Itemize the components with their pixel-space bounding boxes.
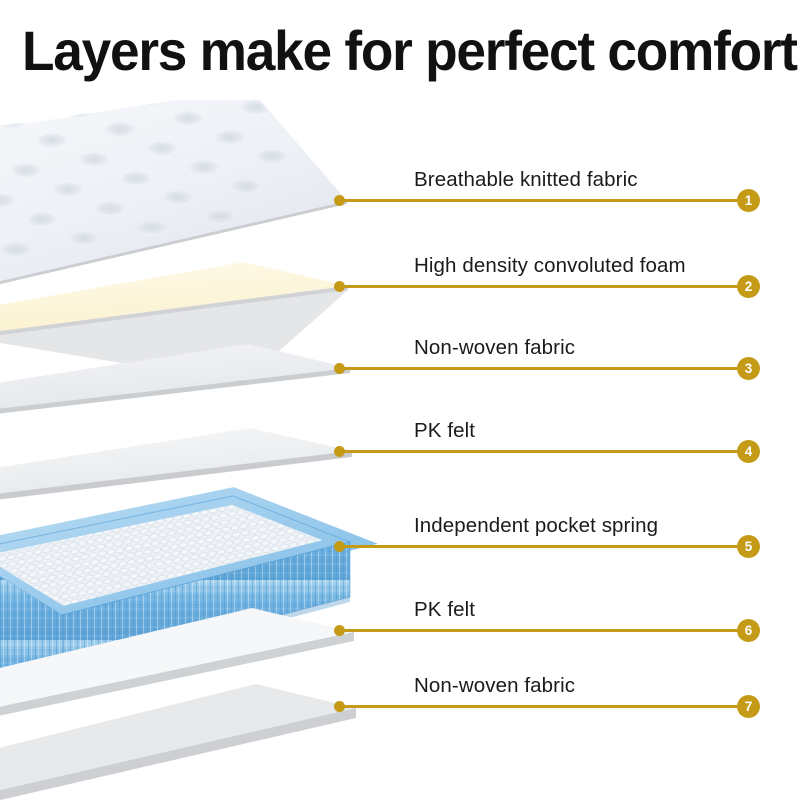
callout-label-5: Independent pocket spring <box>414 514 658 538</box>
layer-pk-felt-top <box>0 428 352 503</box>
callout-label-7: Non-woven fabric <box>414 674 575 698</box>
callout-line-5 <box>340 545 745 548</box>
callout-label-1: Breathable knitted fabric <box>414 168 638 192</box>
callout-badge-5[interactable]: 5 <box>737 535 760 558</box>
callout-badge-7[interactable]: 7 <box>737 695 760 718</box>
callout-badge-3[interactable]: 3 <box>737 357 760 380</box>
callout-badge-6[interactable]: 6 <box>737 619 760 642</box>
callout-label-2: High density convoluted foam <box>414 254 686 278</box>
callout-label-3: Non-woven fabric <box>414 336 575 360</box>
callout-line-1 <box>340 199 745 202</box>
callout-line-6 <box>340 629 745 632</box>
page-title: Layers make for perfect comfort <box>22 20 744 82</box>
callout-badge-2[interactable]: 2 <box>737 275 760 298</box>
callout-label-6: PK felt <box>414 598 475 622</box>
callout-line-4 <box>340 450 745 453</box>
callout-line-7 <box>340 705 745 708</box>
callout-badge-1[interactable]: 1 <box>737 189 760 212</box>
layer-knitted-fabric <box>0 100 370 300</box>
callout-line-3 <box>340 367 745 370</box>
callout-line-2 <box>340 285 745 288</box>
callout-badge-4[interactable]: 4 <box>737 440 760 463</box>
infographic-canvas: Layers make for perfect comfort <box>0 0 800 800</box>
callout-label-4: PK felt <box>414 419 475 443</box>
